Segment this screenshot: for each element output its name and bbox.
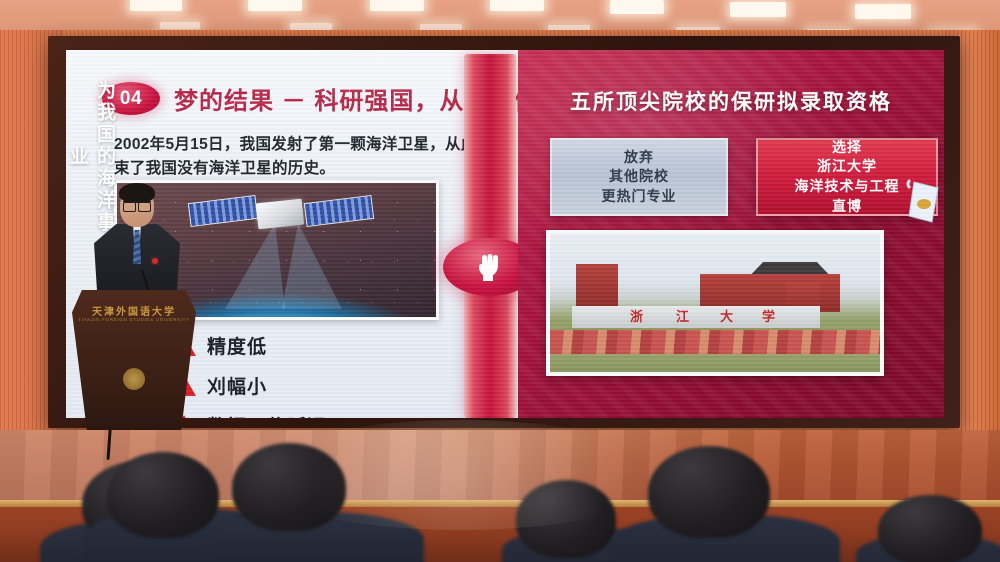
option-line: 其他院校 [609,167,669,187]
warning-label: 刈幅小 [207,372,267,399]
satellite-body-icon [256,199,304,230]
campus-wall [572,306,820,328]
audience-head [232,443,346,531]
university-emblem [123,368,145,390]
wall-character: 江 [674,309,691,325]
ceiling-light [490,0,544,11]
audience-head [107,452,219,538]
option-line: 放弃 [624,148,654,168]
presenter [94,186,180,298]
right-red-panel: 五所顶尖院校的保研拟录取资格 放弃 其他院校 更热门专业 选择 浙江大学 海洋技… [518,50,944,418]
ceiling-light [370,0,424,11]
warning-label: 精度低 [207,332,267,359]
option-line: 更热门专业 [602,187,677,207]
warning-label: 数据下传延迟 [207,412,327,418]
list-item: 精度低 [172,332,327,359]
vertical-slogan-banner [464,54,516,418]
warning-list: 精度低 刈幅小 数据下传延迟 [172,332,327,418]
ceiling-light [130,0,182,11]
diploma-scroll-icon [904,178,944,224]
podium-university-name-en: TIANJIN FOREIGN STUDIES UNIVERSITY [72,317,196,322]
flower-bed [550,330,880,356]
option-line: 直博 [832,197,862,217]
screenshot-root: 04 梦的结果 － 科研强国，从海洋做起 2002年5月15日，我国发射了第一颗… [0,0,1000,562]
list-item: 刈幅小 [172,372,327,399]
audience-head [648,446,770,538]
option-line: 海洋技术与工程 [795,177,900,197]
right-panel-heading: 五所顶尖院校的保研拟录取资格 [518,86,944,116]
campus-photo: 浙 江 大 学 [546,230,884,376]
building-roof [742,262,838,274]
ceiling-light [290,23,332,30]
projection-screen: 04 梦的结果 － 科研强国，从海洋做起 2002年5月15日，我国发射了第一颗… [66,50,944,418]
audience-head [878,495,982,562]
ceiling-light [248,0,302,11]
slide-body-text: 2002年5月15日，我国发射了第一颗海洋卫星，从此结束了我国没有海洋卫星的历史… [114,133,494,181]
slide-section-number: 04 [120,88,142,110]
ceiling-light [610,0,664,14]
raised-fist-icon [475,251,505,283]
presenter-hair [119,183,155,203]
wall-character: 浙 [628,309,645,325]
list-item: 数据下传延迟 [172,412,327,418]
wall-character: 大 [718,309,735,325]
option-line: 浙江大学 [817,157,877,177]
ceiling-light [855,4,911,19]
lawn [550,354,880,372]
wall-character: 学 [760,309,777,325]
lapel-pin [152,258,158,264]
ceiling-light [730,2,786,17]
option-box-chosen: 选择 浙江大学 海洋技术与工程 直博 [756,138,938,216]
podium-university-name-cn: 天津外国语大学 [72,303,196,318]
audience-head [516,480,616,558]
option-box-give-up: 放弃 其他院校 更热门专业 [550,138,728,216]
option-line: 选择 [832,138,862,158]
building-tower [576,264,618,310]
glasses-icon [123,201,151,210]
podium: 天津外国语大学 TIANJIN FOREIGN STUDIES UNIVERSI… [72,290,196,430]
ceiling-light [160,22,200,29]
presentation-slide: 04 梦的结果 － 科研强国，从海洋做起 2002年5月15日，我国发射了第一颗… [66,50,944,418]
